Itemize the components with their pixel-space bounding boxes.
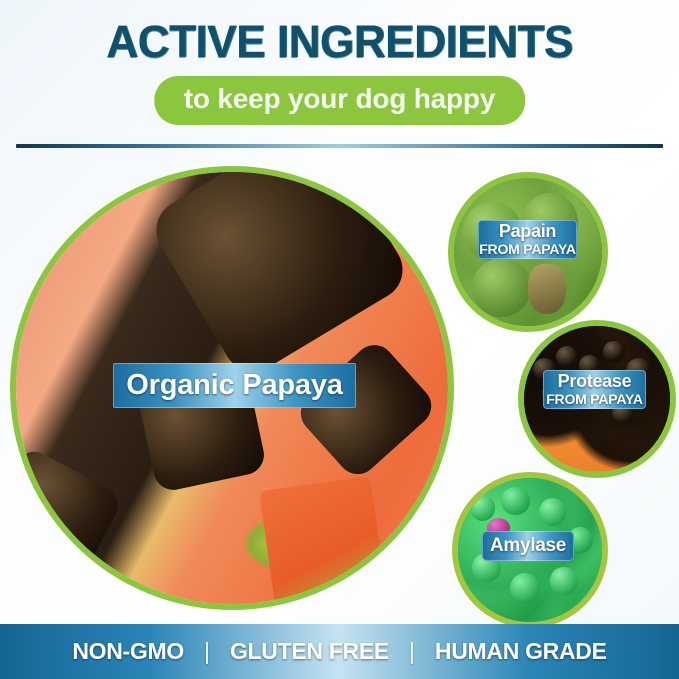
header-divider	[16, 144, 663, 148]
papaya-seed	[603, 341, 625, 363]
protease-label-subtitle: FROM PAPAYA	[546, 392, 643, 406]
microbe	[510, 573, 540, 603]
green-papaya-fruit	[472, 258, 531, 317]
papain-label-title: Papain	[499, 222, 556, 240]
page-title: ACTIVE INGREDIENTS	[7, 17, 672, 67]
microbe	[550, 567, 577, 594]
papain-label: Papain FROM PAPAYA	[478, 220, 577, 259]
microbe	[539, 498, 566, 525]
papain-label-subtitle: FROM PAPAYA	[479, 242, 576, 256]
footer-claims: NON-GMO | GLUTEN FREE | HUMAN GRADE	[72, 638, 606, 665]
footer-claim-gluten-free: GLUTEN FREE	[230, 638, 389, 665]
organic-papaya-label-title: Organic Papaya	[126, 371, 342, 400]
organic-papaya-label: Organic Papaya	[113, 363, 356, 408]
subtitle-pill: to keep your dog happy	[154, 76, 525, 125]
microbe	[501, 487, 530, 516]
subtitle-text: to keep your dog happy	[184, 83, 495, 114]
protease-label-title: Protease	[558, 372, 632, 390]
header: ACTIVE INGREDIENTS to keep your dog happ…	[0, 0, 679, 146]
footer-separator: |	[389, 638, 435, 665]
active-ingredients-infographic: ACTIVE INGREDIENTS to keep your dog happ…	[0, 0, 679, 679]
microbe	[470, 495, 496, 521]
protease-label: Protease FROM PAPAYA	[543, 370, 646, 409]
footer-bar: NON-GMO | GLUTEN FREE | HUMAN GRADE	[0, 624, 679, 679]
papaya-seed-band-right	[292, 337, 439, 483]
footer-separator: |	[184, 638, 230, 665]
amylase-label: Amylase	[482, 531, 574, 561]
footer-claim-human-grade: HUMAN GRADE	[435, 638, 607, 665]
footer-claim-non-gmo: NON-GMO	[72, 638, 184, 665]
papaya-tree-trunk	[528, 264, 566, 314]
amylase-label-title: Amylase	[490, 536, 566, 555]
papaya-seed	[556, 346, 578, 368]
papaya-seed-band-lower-left	[16, 444, 125, 573]
papaya-chunk	[259, 476, 387, 604]
